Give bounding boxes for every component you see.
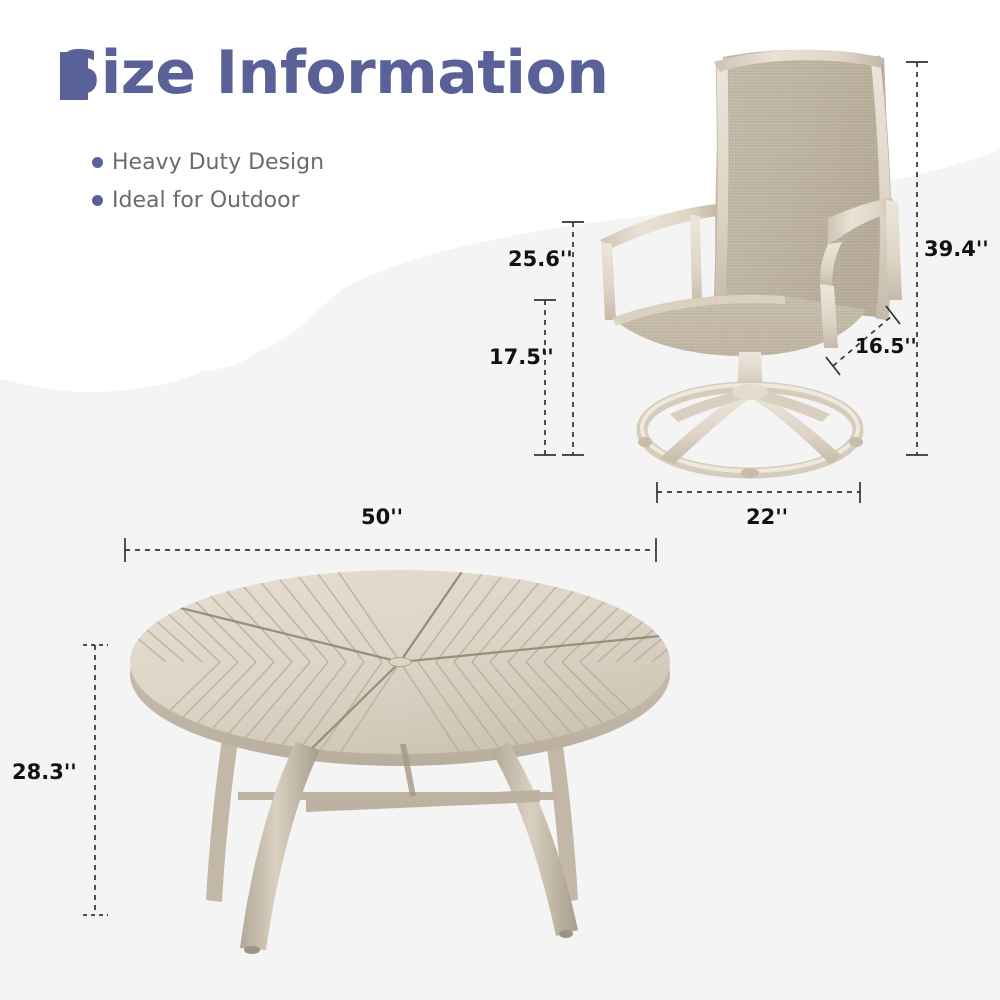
bullet-dot-icon xyxy=(92,195,103,206)
header-block: Size Information Heavy Duty Design Ideal… xyxy=(0,0,620,240)
list-item: Ideal for Outdoor xyxy=(92,188,324,213)
infographic-canvas: Size Information Heavy Duty Design Ideal… xyxy=(0,0,1000,1000)
dimline-table-height xyxy=(83,645,108,915)
dimension-label-chair-seatback-height: 25.6'' xyxy=(508,247,573,271)
bullet-label: Heavy Duty Design xyxy=(112,150,324,175)
dimension-label-chair-seat-height: 17.5'' xyxy=(489,345,554,369)
dimension-label-table-diameter: 50'' xyxy=(361,505,403,529)
page-title: Size Information xyxy=(58,42,608,105)
dimline-chair-seat xyxy=(534,300,556,455)
dimline-chair-width xyxy=(657,482,860,503)
dimension-label-chair-total-height: 39.4'' xyxy=(924,237,989,261)
bullet-label: Ideal for Outdoor xyxy=(112,188,300,213)
feature-bullet-list: Heavy Duty Design Ideal for Outdoor xyxy=(92,150,324,226)
dimension-label-chair-depth: 16.5'' xyxy=(855,334,917,358)
dimension-label-table-height: 28.3'' xyxy=(12,760,77,784)
dimline-table-width xyxy=(125,538,656,562)
dimension-label-chair-width: 22'' xyxy=(746,505,788,529)
list-item: Heavy Duty Design xyxy=(92,150,324,175)
bullet-dot-icon xyxy=(92,157,103,168)
